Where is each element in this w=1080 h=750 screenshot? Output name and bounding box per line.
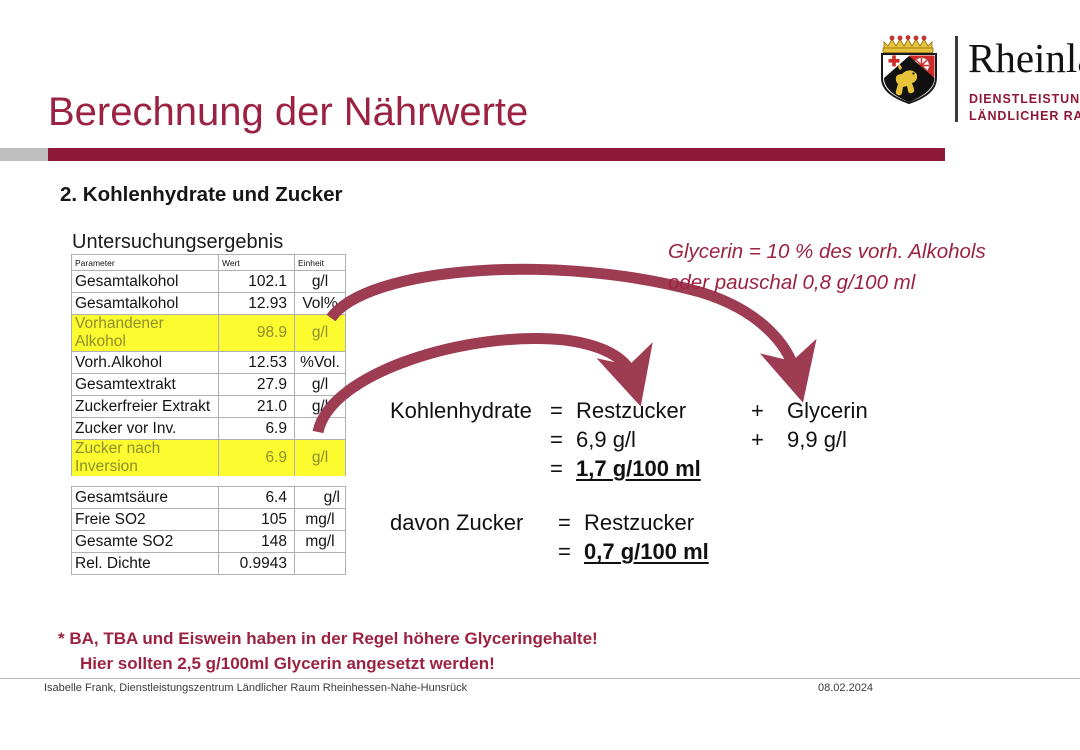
cell-einheit [295, 418, 346, 440]
cell-einheit: %Vol. [295, 352, 346, 374]
formula-equals: = [550, 454, 576, 483]
cell-parameter: Gesamtextrakt [72, 374, 219, 396]
logo-subline: DIENSTLEISTUNGSZE LÄNDLICHER RAUM [969, 91, 1080, 125]
formula-term-a: Restzucker [576, 396, 751, 425]
cell-parameter: Gesamtalkohol [72, 293, 219, 315]
footer-date: 08.02.2024 [818, 682, 873, 694]
column-header-einheit: Einheit [295, 255, 346, 271]
table-body: Gesamtalkohol102.1g/lGesamtalkohol12.93V… [72, 271, 346, 575]
footnote-line-2: Hier sollten 2,5 g/100ml Glycerin angese… [58, 651, 598, 676]
footnote-line-1: * BA, TBA und Eiswein haben in der Regel… [58, 629, 598, 648]
formula-row: davon Zucker = Restzucker [390, 508, 759, 537]
table-row-gap [72, 478, 346, 487]
cell-wert: 6.9 [219, 418, 295, 440]
table-row: Gesamtalkohol102.1g/l [72, 271, 346, 293]
formula-result-kohlenhydrate: 1,7 g/100 ml [576, 454, 751, 483]
footnote: * BA, TBA und Eiswein haben in der Regel… [58, 626, 598, 676]
table-row: Rel. Dichte0.9943 [72, 553, 346, 575]
cell-wert: 6.9 [219, 440, 295, 478]
cell-einheit: g/l [295, 315, 346, 352]
title-rule-grey-segment [0, 148, 48, 161]
logo-subline-2: LÄNDLICHER RAUM [969, 108, 1080, 125]
cell-parameter: Gesamtalkohol [72, 271, 219, 293]
formula-row: = 6,9 g/l + 9,9 g/l [390, 425, 868, 454]
table-caption: Untersuchungsergebnis [72, 231, 283, 254]
results-table: Parameter Wert Einheit Gesamtalkohol102.… [71, 254, 346, 575]
cell-wert: 0.9943 [219, 553, 295, 575]
formula-term-a: Restzucker [584, 508, 759, 537]
formula-label-davon-zucker: davon Zucker [390, 508, 558, 537]
formula-term-b: Glycerin [787, 396, 868, 425]
table-row: Gesamte SO2148mg/l [72, 531, 346, 553]
cell-einheit: Vol% [295, 293, 346, 315]
formula-result-davon-zucker: 0,7 g/100 ml [584, 537, 759, 566]
cell-parameter: Zuckerfreier Extrakt [72, 396, 219, 418]
formula-term-a: 6,9 g/l [576, 425, 751, 454]
cell-wert: 21.0 [219, 396, 295, 418]
cell-wert: 27.9 [219, 374, 295, 396]
table-row: Zucker vor Inv.6.9 [72, 418, 346, 440]
table-row: Vorh.Alkohol12.53%Vol. [72, 352, 346, 374]
cell-einheit: g/l [295, 487, 346, 509]
table-row: Gesamtextrakt27.9g/l [72, 374, 346, 396]
section-heading: 2. Kohlenhydrate und Zucker [60, 183, 343, 207]
cell-wert: 6.4 [219, 487, 295, 509]
cell-parameter: Zucker nach Inversion [72, 440, 219, 478]
formula-row: = 1,7 g/100 ml [390, 454, 868, 483]
cell-wert: 12.53 [219, 352, 295, 374]
cell-einheit [295, 553, 346, 575]
formula-row: = 0,7 g/100 ml [390, 537, 759, 566]
column-header-wert: Wert [219, 255, 295, 271]
formula-row: Kohlenhydrate = Restzucker + Glycerin [390, 396, 868, 425]
glycerin-note-line-1: Glycerin = 10 % des vorh. Alkohols [668, 236, 986, 267]
footer-divider [0, 678, 1080, 679]
cell-wert: 98.9 [219, 315, 295, 352]
cell-wert: 148 [219, 531, 295, 553]
glycerin-note: Glycerin = 10 % des vorh. Alkohols oder … [668, 236, 986, 298]
formula-block-davon-zucker: davon Zucker = Restzucker = 0,7 g/100 ml [390, 508, 759, 566]
cell-parameter: Rel. Dichte [72, 553, 219, 575]
cell-parameter: Freie SO2 [72, 509, 219, 531]
table-row: Gesamtalkohol12.93Vol% [72, 293, 346, 315]
formula-block-kohlenhydrate: Kohlenhydrate = Restzucker + Glycerin = … [390, 396, 868, 483]
formula-plus: + [751, 425, 787, 454]
logo-subline-1: DIENSTLEISTUNGSZE [969, 91, 1080, 108]
formula-equals: = [550, 396, 576, 425]
cell-einheit: g/l [295, 271, 346, 293]
formula-label-kohlenhydrate: Kohlenhydrate [390, 396, 550, 425]
footer-author: Isabelle Frank, Dienstleistungszentrum L… [44, 682, 467, 694]
formula-plus: + [751, 396, 787, 425]
table-row: Zucker nach Inversion6.9g/l [72, 440, 346, 478]
title-rule-accent [48, 148, 945, 161]
table-row: Vorhandener Alkohol98.9g/l [72, 315, 346, 352]
cell-parameter: Vorh.Alkohol [72, 352, 219, 374]
formula-equals: = [550, 425, 576, 454]
rheinland-pfalz-coat-of-arms-icon [876, 32, 942, 104]
cell-parameter: Gesamtsäure [72, 487, 219, 509]
slide: Rheinland DIENSTLEISTUNGSZE LÄNDLICHER R… [0, 0, 1080, 750]
organization-logo: Rheinland DIENSTLEISTUNGSZE LÄNDLICHER R… [872, 28, 1080, 136]
cell-einheit: mg/l [295, 531, 346, 553]
glycerin-note-line-2: oder pauschal 0,8 g/100 ml [668, 267, 986, 298]
table-header-row: Parameter Wert Einheit [72, 255, 346, 271]
cell-einheit: g/l [295, 440, 346, 478]
table-row: Zuckerfreier Extrakt21.0g/l [72, 396, 346, 418]
formula-term-b: 9,9 g/l [787, 425, 847, 454]
cell-parameter: Zucker vor Inv. [72, 418, 219, 440]
table-row: Freie SO2105mg/l [72, 509, 346, 531]
cell-einheit: g/l [295, 374, 346, 396]
formula-equals: = [558, 537, 584, 566]
table-row: Gesamtsäure6.4g/l [72, 487, 346, 509]
cell-wert: 105 [219, 509, 295, 531]
cell-parameter: Vorhandener Alkohol [72, 315, 219, 352]
cell-parameter: Gesamte SO2 [72, 531, 219, 553]
logo-divider [955, 36, 958, 122]
cell-einheit: g/l [295, 396, 346, 418]
cell-wert: 12.93 [219, 293, 295, 315]
column-header-parameter: Parameter [72, 255, 219, 271]
cell-einheit: mg/l [295, 509, 346, 531]
cell-wert: 102.1 [219, 271, 295, 293]
logo-wordmark: Rheinland [968, 34, 1080, 82]
formula-equals: = [558, 508, 584, 537]
page-title: Berechnung der Nährwerte [48, 90, 528, 135]
